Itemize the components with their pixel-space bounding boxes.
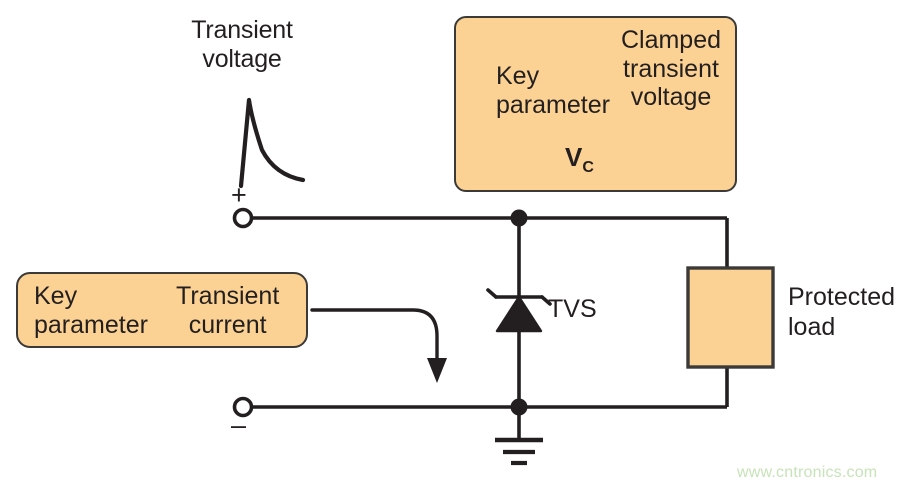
vc-subscript: C: [582, 159, 594, 176]
junction-dot-top: [511, 210, 528, 227]
curved-down-arrow-icon: [312, 310, 447, 383]
vc-measure-label: VC: [565, 142, 594, 177]
negative-terminal-sign: –: [231, 410, 246, 441]
top-rail-wire: [250, 218, 727, 269]
positive-terminal-sign: +: [231, 180, 247, 211]
protected-load-label: Protected load: [788, 283, 895, 342]
bottom-rail-wire: [250, 367, 727, 407]
callout-transient-current-key-parameter: Key parameter: [34, 282, 148, 339]
protected-load-block: [688, 268, 773, 367]
tvs-label: TVS: [548, 295, 597, 324]
terminal-open-circle-icon-positive: [235, 210, 252, 227]
ground-icon: [495, 407, 543, 463]
transient-spike-waveform-icon: [241, 100, 303, 186]
transient-voltage-label: Transient voltage: [152, 16, 332, 73]
vc-symbol: V: [565, 142, 582, 172]
zener-diode-icon: [488, 290, 550, 331]
callout-clamped-voltage-key-parameter: Key parameter: [496, 62, 610, 119]
callout-clamped-voltage-value: Clamped transient voltage: [612, 26, 730, 112]
callout-transient-current-value: Transient current: [176, 282, 279, 339]
diagram-canvas: Key parameter Transient current Key para…: [0, 0, 913, 494]
watermark: www.cntronics.com: [737, 464, 877, 482]
